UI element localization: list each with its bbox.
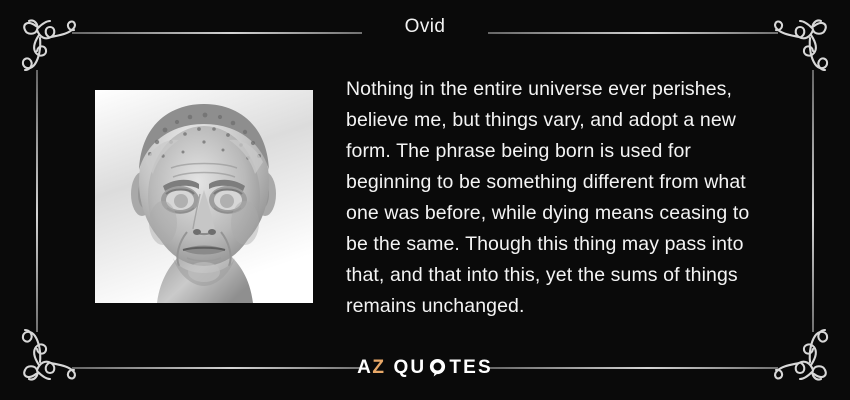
azquotes-logo[interactable]: A Z QU TES [0,355,850,379]
logo-letter-a: A [357,358,371,377]
corner-flourish-bottom-left-icon [6,310,92,396]
quote-card: Ovid [0,0,850,400]
logo-letter-z: Z [372,358,384,377]
frame-rule-left [36,70,38,332]
speech-bubble-icon [428,358,447,377]
quote-body: Nothing in the entire universe ever peri… [346,74,758,322]
logo-az-mark: A Z [357,358,384,377]
author-name: Ovid [0,17,850,36]
author-portrait [95,90,313,303]
logo-quotes-part-2: TES [449,358,493,377]
logo-quotes-part-1: QU [393,358,426,377]
corner-flourish-bottom-right-icon [758,310,844,396]
frame-rule-right [812,70,814,332]
logo-quotes-word: QU TES [393,358,492,377]
